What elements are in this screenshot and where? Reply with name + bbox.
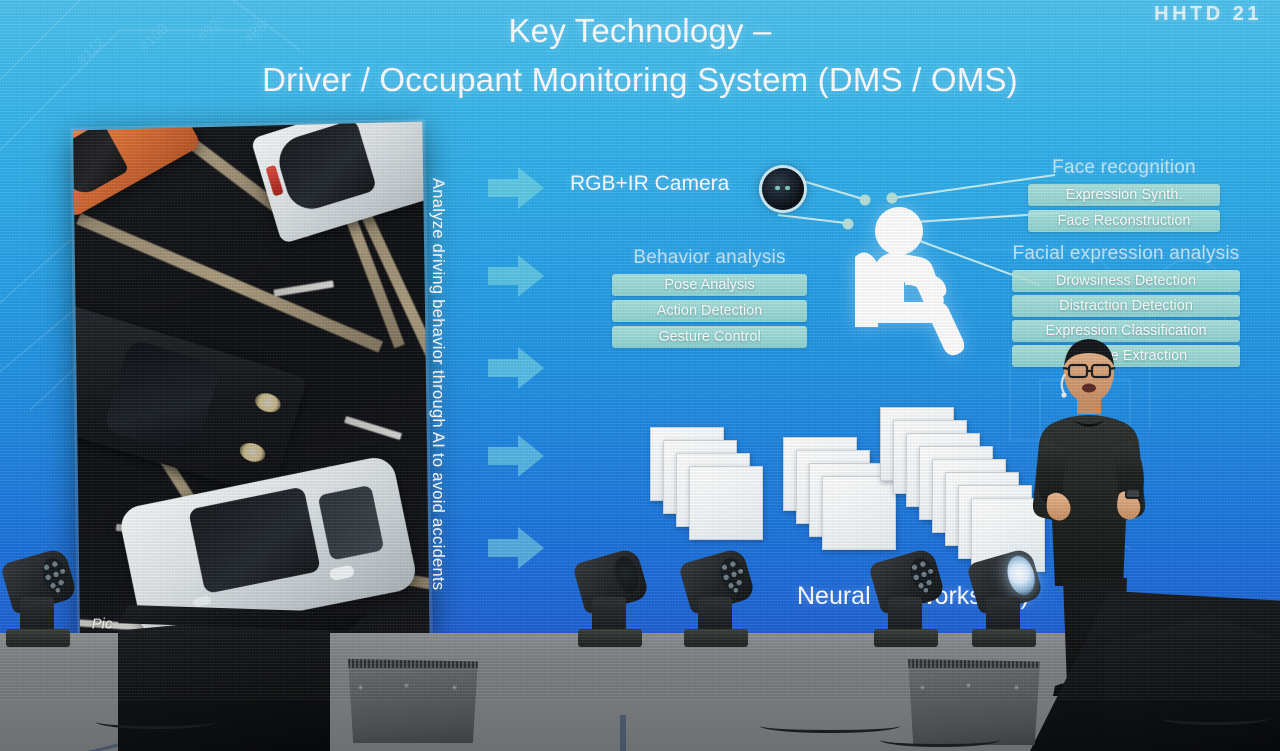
brand-logo: HHTD 21 (1154, 3, 1262, 26)
slide-title: Key Technology – Driver / Occupant Monit… (0, 6, 1280, 104)
slide-title-line-2: Driver / Occupant Monitoring System (DMS… (0, 55, 1280, 104)
pill-gesture-control[interactable]: Gesture Control (612, 326, 807, 348)
group-heading-facial-expression: Facial expression analysis (1012, 243, 1240, 265)
stage-cable (96, 715, 216, 729)
group-face-recognition: Face recognition Expression Synth. Face … (1028, 157, 1220, 232)
parking-lot-photo-panel: Pic (73, 122, 430, 647)
pill-face-reconstruction[interactable]: Face Reconstruction (1028, 210, 1220, 232)
camera-label: RGB+IR Camera (570, 172, 729, 196)
moving-head-light (6, 553, 72, 647)
pill-drowsiness-detection[interactable]: Drowsiness Detection (1012, 270, 1240, 292)
flow-arrows (486, 163, 550, 583)
group-heading-behavior: Behavior analysis (612, 247, 807, 269)
pill-distraction-detection[interactable]: Distraction Detection (1012, 295, 1240, 317)
moving-head-light-lit (972, 553, 1038, 647)
moving-head-light (684, 553, 750, 647)
vertical-caption: Analyze driving behavior through AI to a… (428, 178, 447, 618)
camera-lens-icon (762, 168, 804, 210)
pill-expression-synth[interactable]: Expression Synth. (1028, 184, 1220, 206)
stage-monitor-speaker (348, 659, 478, 743)
photo-caption: Pic (92, 616, 113, 633)
pill-action-detection[interactable]: Action Detection (612, 300, 807, 322)
photo-frame: Pic (73, 122, 430, 647)
group-heading-face-recognition: Face recognition (1028, 157, 1220, 179)
stage-presentation-photo: #112 #100 #92 #88 Key Technology – Drive… (0, 0, 1280, 751)
stage-cable (880, 733, 1000, 747)
group-behavior-analysis: Behavior analysis Pose Analysis Action D… (612, 247, 807, 348)
seated-driver-icon (845, 195, 1000, 365)
moving-head-light (874, 553, 940, 647)
stage-cable (1160, 711, 1270, 725)
flow-arrow-right-icon (486, 163, 546, 213)
moving-head-light (578, 553, 644, 647)
pill-pose-analysis[interactable]: Pose Analysis (612, 274, 807, 296)
flow-arrow-right-icon (486, 523, 546, 573)
nn-card (689, 466, 763, 540)
flow-arrow-right-icon (486, 343, 546, 393)
flow-arrow-right-icon (486, 431, 546, 481)
flow-arrow-right-icon (486, 251, 546, 301)
nn-card (822, 476, 896, 550)
stage-riser (118, 611, 330, 751)
slide-title-line-1: Key Technology – (0, 6, 1280, 55)
stage-monitor-speaker (908, 659, 1040, 745)
stage-cable (760, 719, 900, 733)
